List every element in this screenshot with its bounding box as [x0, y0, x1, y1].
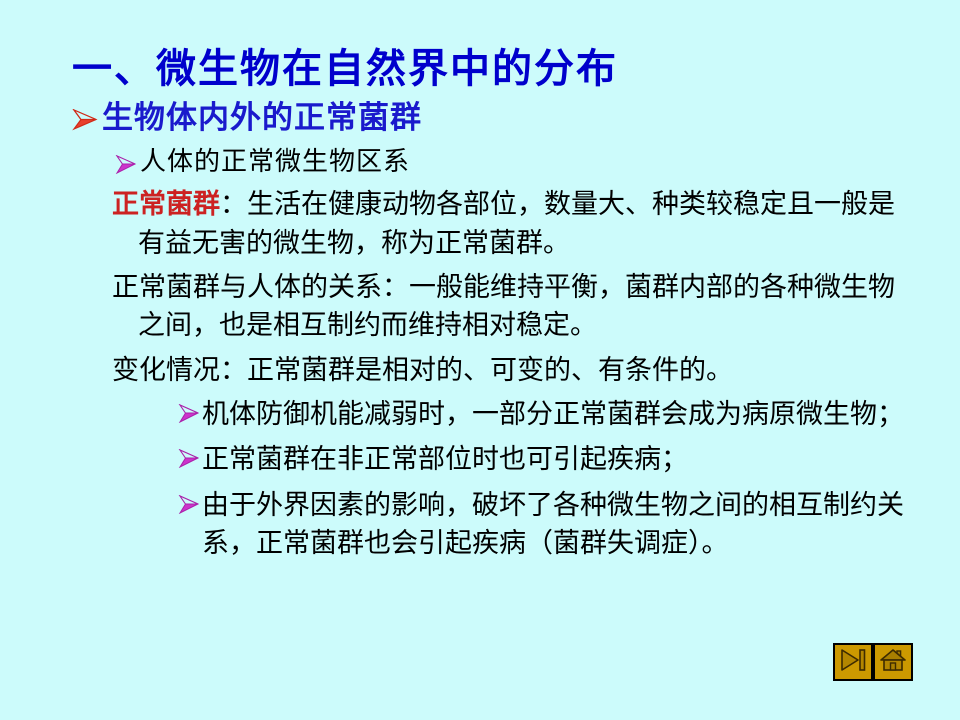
paragraph-text: 正常菌群与人体的关系：一般能维持平衡，菌群内部的各种微生物之间，也是相互制约而维… — [112, 272, 895, 341]
sub-bullet-item: 正常菌群在非正常部位时也可引起疾病； — [178, 441, 920, 479]
magenta-arrow-bullet-icon — [115, 155, 137, 174]
paragraph-text: ：生活在健康动物各部位，数量大、种类较稳定且一般是有益无害的微生物，称为正常菌群… — [138, 189, 895, 258]
slide-canvas: 一、微生物在自然界中的分布 生物体内外的正常菌群 人体的正常微生物区系 — [0, 0, 960, 720]
magenta-arrow-bullet-icon — [178, 404, 200, 423]
next-slide-button[interactable] — [833, 643, 873, 681]
magenta-arrow-bullet-icon — [178, 495, 200, 514]
sub-bullet-label: 机体防御机能减弱时，一部分正常菌群会成为病原微生物； — [202, 396, 904, 434]
level1-bullet-item: 生物体内外的正常菌群 — [72, 100, 960, 137]
level1-bullet-label: 生物体内外的正常菌群 — [102, 100, 422, 137]
highlight-term: 正常菌群 — [112, 189, 220, 220]
sub-bullet-item: 由于外界因素的影响，破坏了各种微生物之间的相互制约关系，正常菌群也会引起疾病（菌… — [178, 487, 920, 564]
slide-body: 生物体内外的正常菌群 人体的正常微生物区系 正常菌群：生活在健康动物各部位，数量… — [0, 100, 960, 570]
home-button[interactable] — [873, 643, 913, 681]
magenta-arrow-bullet-icon — [178, 449, 200, 468]
red-arrow-bullet-icon — [72, 109, 98, 131]
sub-bullet-label: 由于外界因素的影响，破坏了各种微生物之间的相互制约关系，正常菌群也会引起疾病（菌… — [202, 487, 920, 564]
sub-bullet-label: 正常菌群在非正常部位时也可引起疾病； — [202, 441, 688, 479]
sub-bullet-item: 机体防御机能减弱时，一部分正常菌群会成为病原微生物； — [178, 396, 920, 434]
slide-title: 一、微生物在自然界中的分布 — [72, 36, 618, 94]
paragraph-change-conditions: 变化情况：正常菌群是相对的、可变的、有条件的。 — [112, 352, 918, 390]
level2-bullet-label: 人体的正常微生物区系 — [140, 147, 410, 178]
next-slide-icon — [839, 648, 867, 676]
paragraph-text: 变化情况：正常菌群是相对的、可变的、有条件的。 — [112, 355, 733, 386]
level2-bullet-item: 人体的正常微生物区系 — [115, 147, 960, 178]
paragraph-normal-flora-definition: 正常菌群：生活在健康动物各部位，数量大、种类较稳定且一般是有益无害的微生物，称为… — [112, 186, 918, 263]
home-icon — [879, 648, 907, 676]
slide-navigation-bar — [833, 643, 913, 681]
paragraph-flora-human-relation: 正常菌群与人体的关系：一般能维持平衡，菌群内部的各种微生物之间，也是相互制约而维… — [112, 269, 918, 346]
